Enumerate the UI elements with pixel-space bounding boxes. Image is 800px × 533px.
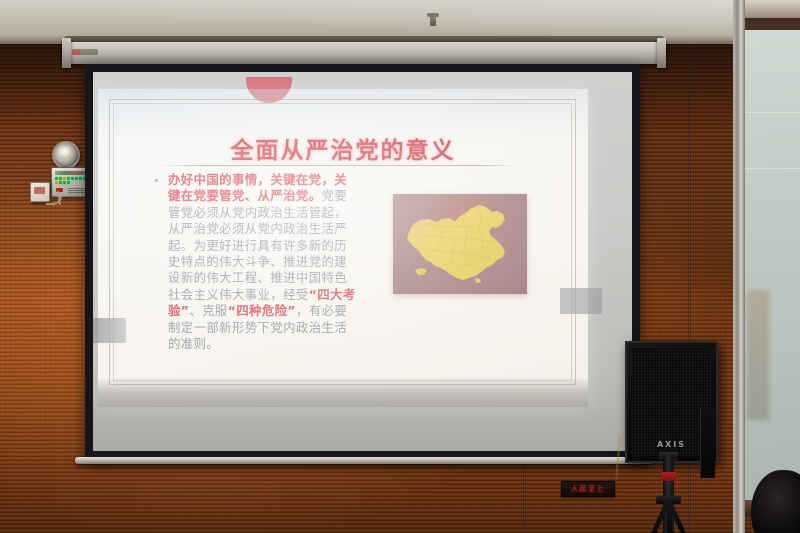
- conference-room-photo: 人民至上 全面从严治党的意义 办好中国的事情，关键在党，关键在党要管党、从严治党…: [0, 0, 800, 533]
- screen-bracket: [62, 38, 71, 68]
- glass-reflection: [747, 290, 769, 420]
- glass-seam: [745, 168, 800, 169]
- bullet-marker-icon: [155, 179, 158, 182]
- wall-plaque: 人民至上: [561, 481, 615, 497]
- frosted-glass-panel: [745, 30, 800, 510]
- door-frame: [733, 0, 745, 533]
- control-panel-indicators: [55, 177, 86, 184]
- led-indicator: [67, 181, 70, 184]
- body-run-normal: 、克服: [189, 303, 227, 318]
- body-run-normal: 党要管党必须从党内政治生活管起，从严治党必须从党内政治生活严起。为更好进行具有许…: [168, 188, 347, 301]
- dome-light-icon: [52, 141, 80, 169]
- wall-monitor-edge: [700, 408, 715, 478]
- screen-brand-logo-icon: [72, 49, 98, 55]
- led-indicator: [75, 177, 78, 180]
- led-indicator: [67, 177, 70, 180]
- left-tab-decoration: [93, 318, 126, 343]
- led-indicator: [55, 181, 58, 184]
- wall-plaque-text: 人民至上: [571, 484, 605, 494]
- led-indicator: [55, 177, 58, 180]
- screen-bottom-weight-bar: [75, 457, 653, 464]
- title-divider: [158, 165, 518, 166]
- led-indicator: [63, 181, 66, 184]
- slide-lower-shading: [98, 377, 588, 407]
- led-indicator: [59, 181, 62, 184]
- projected-slide: 全面从严治党的意义 办好中国的事情，关键在党，关键在党要管党、从严治党。党要管党…: [98, 89, 588, 407]
- glass-seam: [745, 112, 800, 113]
- body-run-highlight: “四种危险”: [228, 303, 296, 318]
- sprinkler-icon: [430, 16, 436, 26]
- screen-bracket: [657, 38, 666, 68]
- led-indicator: [79, 177, 82, 180]
- slide-body-text: 办好中国的事情，关键在党，关键在党要管党、从严治党。党要管党必须从党内政治生活管…: [168, 172, 358, 352]
- slide-title: 全面从严治党的意义: [98, 131, 588, 165]
- right-tab-decoration: [560, 288, 602, 314]
- projection-screen-surface: 全面从严治党的意义 办好中国的事情，关键在党，关键在党要管党、从严治党。党要管党…: [93, 72, 632, 451]
- led-indicator: [59, 177, 62, 180]
- body-run-highlight: 办好中国的事情，关键在党，关键在党要管党、从严治党。: [168, 172, 347, 203]
- speaker-stand-leg: [667, 500, 672, 533]
- projection-screen-housing: [62, 42, 666, 64]
- control-panel-label-lines: [68, 188, 86, 193]
- map-of-china-image: [393, 194, 527, 294]
- led-indicator: [63, 177, 66, 180]
- speaker-stand-collar[interactable]: [661, 472, 676, 481]
- china-map-icon: [393, 194, 527, 294]
- control-panel-header: [55, 171, 86, 175]
- led-indicator: [71, 177, 74, 180]
